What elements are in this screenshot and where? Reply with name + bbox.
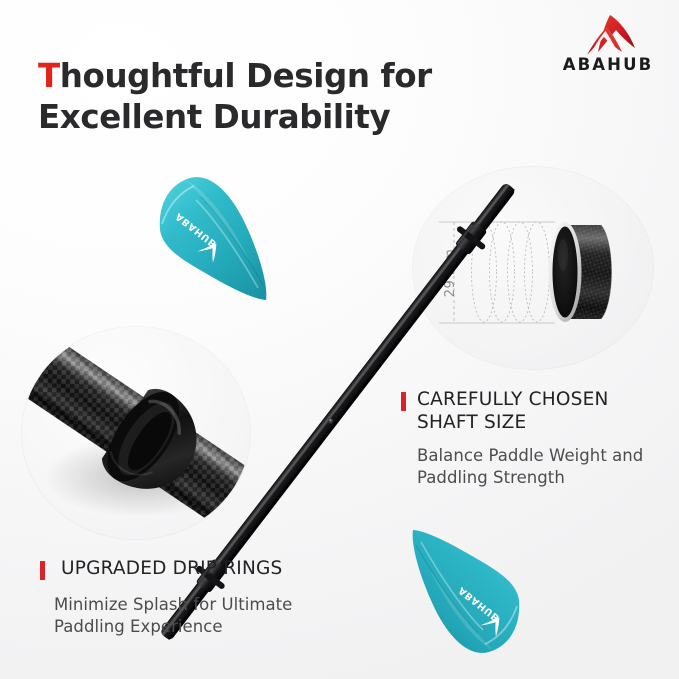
headline-line-1: Thoughtful Design for	[38, 56, 498, 97]
product-feature-image: ABAHUB Thoughtful Design for Excellent D…	[0, 0, 679, 679]
brand-logo: ABAHUB	[548, 14, 668, 86]
shaft-dimension-label: 29 mm	[443, 249, 458, 298]
headline-line-1-rest: houghtful Design for	[60, 57, 432, 95]
lower-paddle-blade: ABAHUB	[413, 530, 520, 653]
callout-title: CAREFULLY CHOSEN SHAFT SIZE	[417, 389, 669, 434]
svg-text:ABAHUB: ABAHUB	[457, 585, 502, 624]
callout-shaft-size: CAREFULLY CHOSEN SHAFT SIZE Balance Padd…	[401, 389, 669, 489]
drip-ring-inset	[22, 327, 250, 539]
shaft-adjust-button	[327, 418, 334, 425]
callout-body: Balance Paddle Weight and Paddling Stren…	[417, 445, 669, 489]
carbon-tube-cross-section	[549, 222, 612, 322]
callout-drip-rings: UPGRADED DRIP RINGS Minimize Splash for …	[40, 558, 350, 637]
headline-accent-letter: T	[38, 57, 60, 95]
headline-line-2: Excellent Durability	[38, 97, 498, 138]
blade-logo-icon-upper	[197, 237, 223, 263]
callout-title: UPGRADED DRIP RINGS	[61, 558, 282, 581]
helix-outline	[472, 222, 550, 322]
callout-accent-bar	[401, 392, 406, 411]
brand-wordmark: ABAHUB	[548, 57, 668, 74]
blade-brand-lower: ABAHUB	[457, 585, 502, 624]
blade-logo-icon-lower	[480, 611, 506, 637]
page-title: Thoughtful Design for Excellent Durabili…	[38, 56, 498, 137]
abahub-wave-logo-icon	[577, 14, 639, 56]
svg-text:ABAHUB: ABAHUB	[174, 211, 219, 250]
blade-brand-upper: ABAHUB	[174, 211, 219, 250]
upper-paddle-blade: ABAHUB	[160, 177, 267, 300]
shaft-diameter-inset: 29 mm	[413, 167, 653, 369]
callout-accent-bar	[40, 561, 45, 580]
callout-body: Minimize Splash for Ultimate Paddling Ex…	[54, 594, 350, 638]
